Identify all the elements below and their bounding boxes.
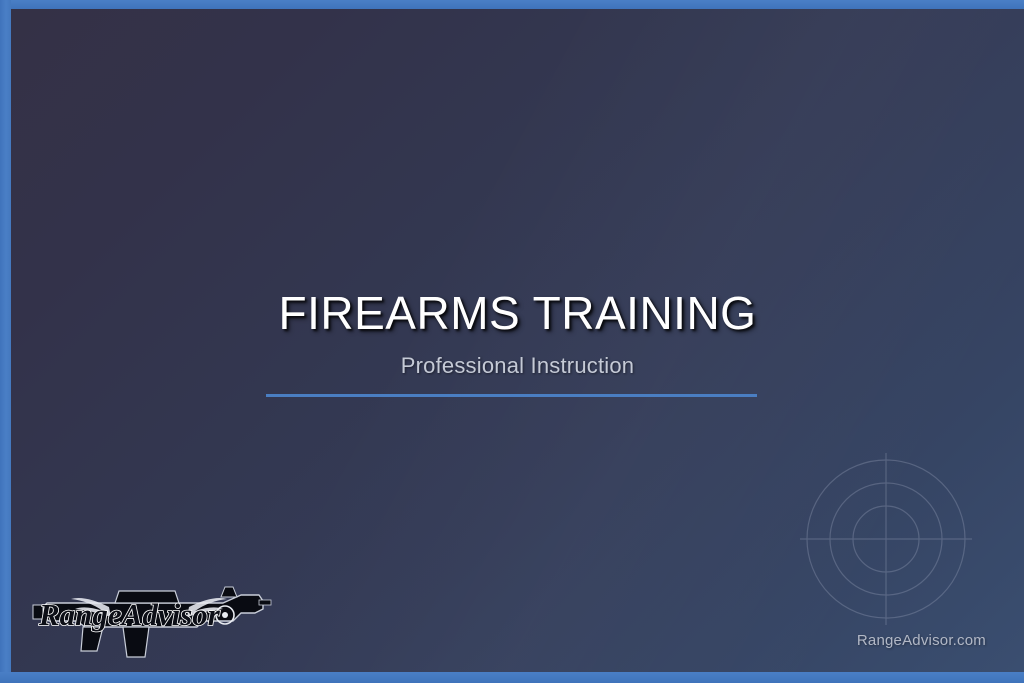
slide-frame-left-border — [0, 0, 11, 683]
accent-divider — [266, 394, 757, 397]
target-reticle-icon — [800, 453, 972, 625]
slide-subtitle: Professional Instruction — [11, 353, 1024, 379]
slide-canvas: FIREARMS TRAINING Professional Instructi… — [11, 9, 1024, 672]
slide-frame-bottom-border — [0, 672, 1024, 683]
presentation-slide: FIREARMS TRAINING Professional Instructi… — [0, 0, 1024, 683]
title-block: FIREARMS TRAINING Professional Instructi… — [11, 289, 1024, 379]
logo-wordmark: RangeAdvisor — [38, 597, 221, 632]
brand-logo: RangeAdvisor — [27, 565, 277, 665]
slide-frame-top-border — [0, 0, 1024, 9]
footer-website-url: RangeAdvisor.com — [857, 632, 986, 649]
page-title: FIREARMS TRAINING — [11, 289, 1024, 339]
